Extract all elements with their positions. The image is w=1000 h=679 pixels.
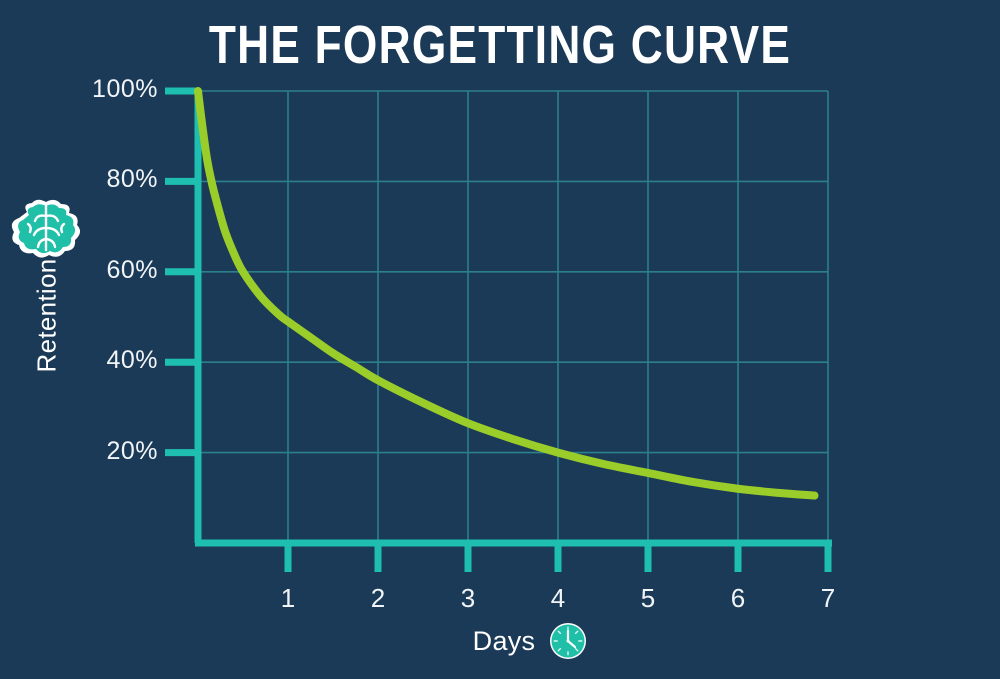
x-axis-title: Days <box>473 626 536 657</box>
brain-icon <box>6 198 86 269</box>
horizontal-gridlines <box>198 91 828 453</box>
retention-curve <box>198 91 815 496</box>
x-tick-label: 4 <box>538 583 578 614</box>
x-tick-label: 6 <box>718 583 758 614</box>
x-tick-label: 3 <box>448 583 488 614</box>
vertical-gridlines <box>288 91 828 543</box>
x-tick-label: 1 <box>268 583 308 614</box>
x-axis-title-group: Days <box>430 622 630 660</box>
y-tick-label: 20% <box>48 437 158 466</box>
y-tick-label: 100% <box>48 75 158 104</box>
forgetting-curve-infographic: THE FORGETTING CURVE 20%40%60%80%100% 12… <box>0 0 1000 679</box>
x-tick-label: 2 <box>358 583 398 614</box>
y-tick-label: 40% <box>48 346 158 375</box>
x-tick-label: 7 <box>808 583 848 614</box>
x-tick-label: 5 <box>628 583 668 614</box>
clock-icon <box>549 622 587 660</box>
y-tick-label: 80% <box>48 165 158 194</box>
